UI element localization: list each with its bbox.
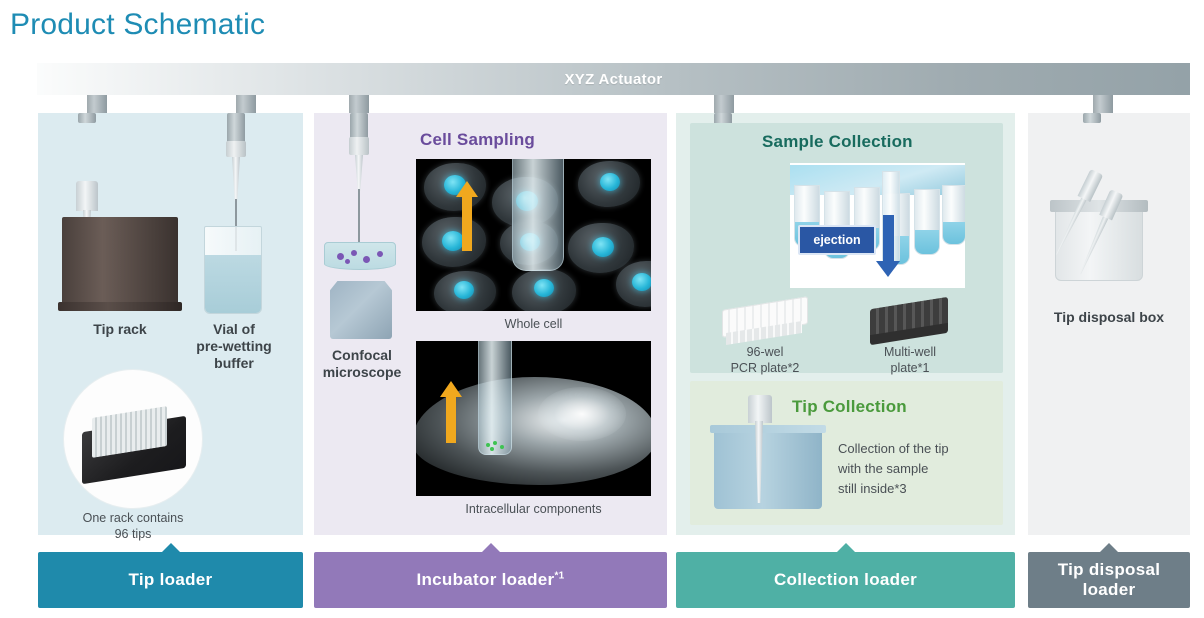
page-title: Product Schematic: [10, 8, 265, 42]
micrograph-intracellular: [416, 341, 651, 496]
pcr-plate-label-line1: 96-wel: [708, 345, 822, 361]
xyz-actuator-bar: XYZ Actuator: [37, 63, 1190, 95]
loader-bar-tip-loader[interactable]: Tip loader: [38, 552, 303, 608]
pipette-incubator: [350, 113, 368, 155]
loader-label-tip: Tip loader: [129, 570, 213, 590]
tip-disposal-box-label: Tip disposal box: [1028, 309, 1190, 326]
rack-inset-circle: [64, 370, 202, 508]
loader-label-incubator-sup: *1: [554, 571, 564, 582]
tip-collection-title: Tip Collection: [792, 397, 907, 417]
cell-dot: [345, 259, 350, 264]
ejection-arrow-down: [876, 215, 900, 277]
tip-collection-line1: Collection of the tip: [838, 439, 998, 459]
pipette-vial: [227, 113, 245, 157]
intracellular-caption: Intracellular components: [416, 502, 651, 518]
sample-collection-box: Sample Collection ejection: [690, 123, 1003, 373]
panels-row: Tip rack Vial of pre-wetting buffer: [0, 113, 1204, 535]
ejection-photo: ejection: [790, 163, 965, 288]
sampling-direction-arrow: [440, 381, 462, 443]
loader-notch: [161, 543, 181, 553]
tip-cone-incubator: [348, 155, 370, 191]
cell-dot: [377, 251, 383, 257]
confocal-label-line2: microscope: [314, 364, 410, 381]
loader-label-collection: Collection loader: [774, 570, 917, 590]
loader-bars-row: Tip loader Incubator loader*1 Collection…: [0, 552, 1204, 614]
sampling-probe: [512, 159, 564, 271]
tip-disposal-box-graphic: [1055, 208, 1143, 281]
confocal-microscope-label: Confocal microscope: [314, 347, 410, 381]
loader-bar-tip-disposal-loader[interactable]: Tip disposal loader: [1028, 552, 1190, 608]
loader-bar-incubator-loader[interactable]: Incubator loader*1: [314, 552, 667, 608]
pipette-disposal: [1083, 113, 1101, 123]
micrograph-whole-cell: [416, 159, 651, 311]
panel-incubator-loader: Cell Sampling Confocal microscope: [314, 113, 667, 535]
pre-wetting-vial: [204, 226, 262, 314]
tip-rack-label: Tip rack: [58, 321, 182, 338]
vial-label: Vial of pre-wetting buffer: [195, 321, 273, 371]
cell-sampling-title: Cell Sampling: [420, 130, 535, 150]
petri-dish: [324, 242, 396, 270]
loader-notch: [836, 543, 856, 553]
multi-well-label-line2: plate*1: [856, 361, 964, 377]
loader-label-disposal-line2: loader: [1083, 580, 1136, 599]
loader-label-incubator: Incubator loader*1: [416, 570, 564, 590]
vial-label-line3: buffer: [195, 355, 273, 372]
tip-collection-line2: with the sample: [838, 459, 998, 479]
cell-dot: [337, 253, 344, 260]
pcr-plate-96-label: 96-wel PCR plate*2: [708, 345, 822, 376]
panel-tip-disposal-loader: Tip disposal box: [1028, 113, 1190, 535]
loader-notch: [481, 543, 501, 553]
collected-tip: [748, 395, 772, 503]
rack-inset-caption-line2: 96 tips: [56, 527, 210, 543]
whole-cell-caption: Whole cell: [416, 317, 651, 333]
pcr-plate-label-line2: PCR plate*2: [708, 361, 822, 377]
confocal-microscope-graphic: [330, 281, 392, 339]
tip-collection-line3: still inside*3: [838, 479, 998, 499]
cell-dot: [363, 256, 370, 263]
loader-label-disposal: Tip disposal loader: [1058, 560, 1160, 599]
multi-well-plate-label: Multi-well plate*1: [856, 345, 964, 376]
xyz-actuator-label: XYZ Actuator: [564, 71, 662, 88]
loader-bar-collection-loader[interactable]: Collection loader: [676, 552, 1015, 608]
rack-inset-caption-line1: One rack contains: [56, 511, 210, 527]
panel-tip-loader: Tip rack Vial of pre-wetting buffer: [38, 113, 303, 535]
vial-label-line1: Vial of: [195, 321, 273, 338]
multi-well-label-line1: Multi-well: [856, 345, 964, 361]
sampling-direction-arrow: [456, 181, 478, 251]
pipette-tip-rack: [78, 113, 96, 123]
multi-well-plate-graphic: [870, 303, 948, 345]
panel-collection-loader: Sample Collection ejection: [676, 113, 1015, 535]
vial-label-line2: pre-wetting: [195, 338, 273, 355]
sampling-probe: [478, 341, 512, 455]
ejection-badge: ejection: [798, 225, 876, 255]
sample-collection-title: Sample Collection: [762, 132, 913, 152]
tip-cone-vial: [225, 157, 247, 201]
discarded-tip-1: [1078, 169, 1104, 202]
loader-label-disposal-line1: Tip disposal: [1058, 560, 1160, 579]
loader-notch: [1099, 543, 1119, 553]
loader-label-incubator-text: Incubator loader: [416, 570, 554, 589]
rack-96-tips-graphic: [82, 408, 186, 478]
confocal-label-line1: Confocal: [314, 347, 410, 364]
cell-dot: [351, 250, 357, 256]
rack-inset-caption: One rack contains 96 tips: [56, 511, 210, 542]
tip-collection-box: Tip Collection Collection of the tip wit…: [690, 381, 1003, 525]
pcr-plate-96-graphic: [722, 303, 808, 345]
tip-collection-body: Collection of the tip with the sample st…: [838, 439, 998, 499]
tip-rack-graphic: [58, 211, 182, 311]
